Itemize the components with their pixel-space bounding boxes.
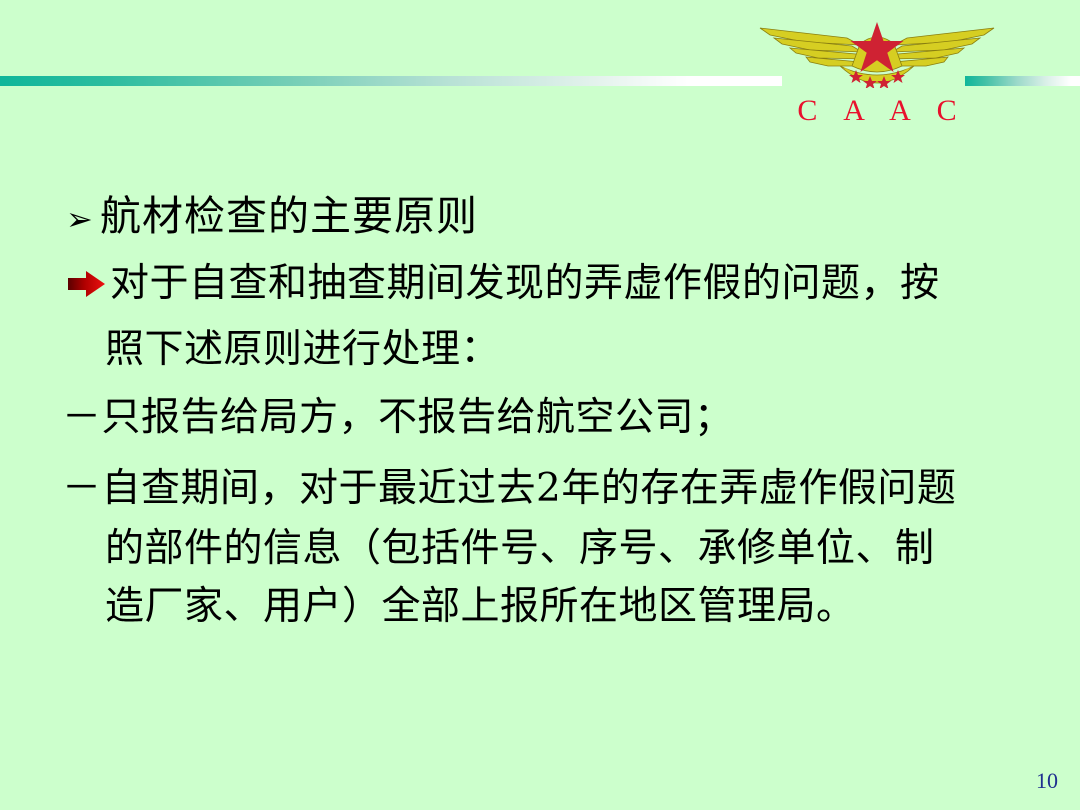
caac-logo: C A A C bbox=[752, 8, 1002, 138]
list-item-1: －只报告给局方，不报告给航空公司； bbox=[62, 387, 1080, 449]
para-red-line-1: 对于自查和抽查期间发现的弄虚作假的问题，按 bbox=[110, 255, 940, 313]
list-item-2-text: 自查期间，对于最近过去2年的存在弄虚作假问题 bbox=[102, 466, 957, 511]
triangle-right-icon: ➢ bbox=[66, 189, 100, 249]
caac-caption: C A A C bbox=[752, 94, 1002, 128]
red-right-arrow-icon bbox=[66, 269, 108, 299]
header-rule-left bbox=[0, 76, 782, 86]
title-text: 航材检查的主要原则 bbox=[100, 186, 478, 246]
para-red-line-2: 照下述原则进行处理： bbox=[105, 321, 1080, 379]
bullet-red-arrow-line: 对于自查和抽查期间发现的弄虚作假的问题，按 bbox=[66, 255, 1080, 313]
bullet-title: ➢ 航材检查的主要原则 bbox=[66, 186, 1080, 249]
caac-wings-emblem bbox=[752, 8, 1002, 88]
list-item-1-dash: － bbox=[62, 395, 102, 440]
page-number: 10 bbox=[1036, 768, 1058, 794]
list-item-2: －自查期间，对于最近过去2年的存在弄虚作假问题 bbox=[62, 458, 1080, 520]
slide-canvas: C A A C ➢ 航材检查的主要原则 bbox=[0, 0, 1080, 810]
list-item-2-line-2: 的部件的信息（包括件号、序号、承修单位、制 bbox=[105, 520, 1080, 578]
list-item-1-text: 只报告给局方，不报告给航空公司； bbox=[102, 395, 734, 440]
slide-body: ➢ 航材检查的主要原则 对于自查和抽查期间发现的弄虚作假的问题，按 bbox=[0, 186, 1080, 636]
list-item-2-dash: － bbox=[62, 466, 102, 511]
list-item-2-line-3: 造厂家、用户）全部上报所在地区管理局。 bbox=[105, 578, 1080, 636]
